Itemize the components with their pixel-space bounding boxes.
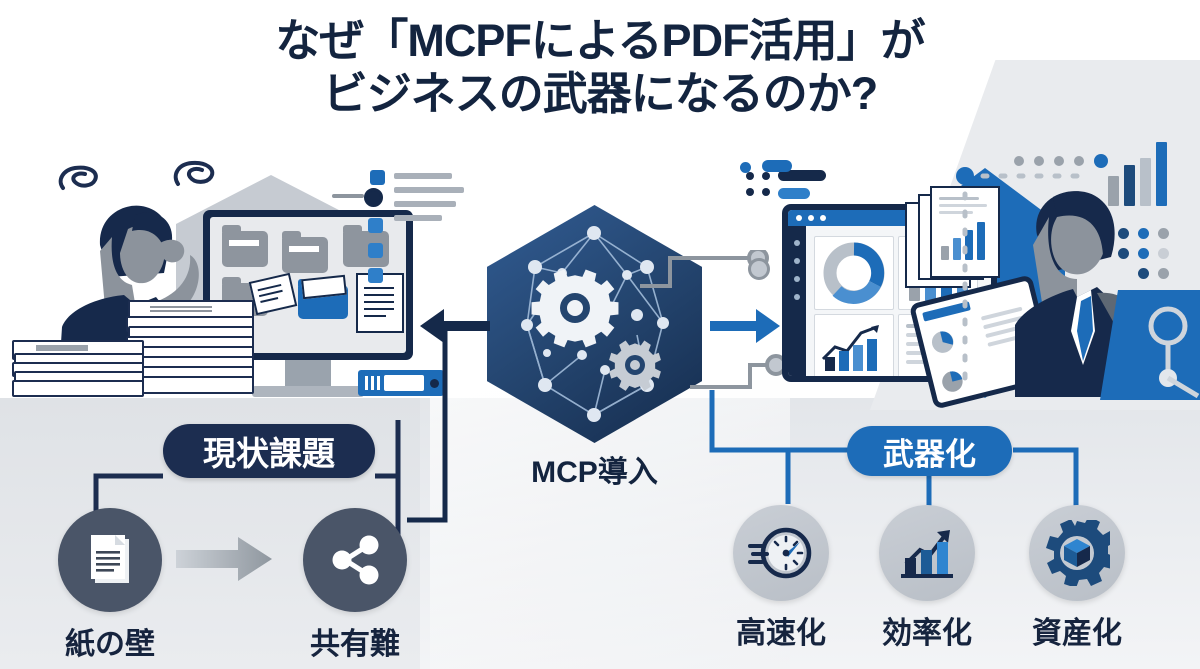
decoration-dot — [1158, 248, 1169, 259]
benefit-node-asset[interactable]: 資産化 — [1012, 505, 1142, 652]
bar-chart-decoration-icon — [1124, 165, 1135, 206]
growth-bar-chart-icon — [879, 505, 975, 601]
issue-node-sharing-difficulty-label: 共有難 — [285, 619, 425, 663]
decoration-pill — [762, 160, 792, 172]
speedometer-icon — [733, 505, 829, 601]
page-title: なぜ「MCPFによるPDF活用」が ビジネスの武器になるのか? — [0, 14, 1200, 120]
hub-label: MCP導入 — [487, 447, 702, 491]
decoration-dot — [1118, 248, 1129, 259]
list-bullet-square — [370, 170, 385, 185]
badge-current-issues-label: 現状課題 — [203, 427, 335, 475]
gear-cube-icon — [1029, 505, 1125, 601]
title-line-1: なぜ「MCPFによるPDF活用」が — [0, 14, 1200, 67]
benefit-node-speed-label: 高速化 — [716, 608, 846, 652]
text-placeholder-line — [394, 215, 442, 221]
donut-chart-card — [814, 236, 894, 310]
folder-blue-icon — [298, 285, 348, 319]
decoration-dot — [1138, 268, 1149, 279]
trend-chart-card — [814, 314, 894, 376]
decoration-dot — [1138, 228, 1149, 239]
decoration-dot — [746, 172, 754, 180]
paper-stack-illustration — [12, 340, 152, 398]
decoration-pill — [778, 188, 810, 199]
text-placeholder-line — [394, 187, 464, 193]
benefit-node-efficiency-label: 効率化 — [862, 608, 992, 652]
badge-weaponization-label: 武器化 — [883, 429, 976, 474]
list-bullet-square — [368, 243, 383, 258]
decoration-dot — [740, 162, 751, 173]
connector-arrow-small — [756, 276, 802, 386]
decoration-dot — [1138, 248, 1149, 259]
benefit-node-efficiency[interactable]: 効率化 — [862, 505, 992, 652]
benefit-node-speed[interactable]: 高速化 — [716, 505, 846, 652]
node-link-decoration — [1140, 300, 1200, 400]
decoration-dot — [746, 188, 754, 196]
text-placeholder-line — [394, 173, 452, 179]
issue-node-paper-wall-label: 紙の壁 — [40, 619, 180, 663]
issue-node-sharing-difficulty[interactable]: 共有難 — [285, 508, 425, 663]
decoration-dot — [1118, 228, 1129, 239]
bar-chart-decoration-icon — [1140, 158, 1151, 206]
benefit-node-asset-label: 資産化 — [1012, 608, 1142, 652]
list-bullet-square — [368, 218, 383, 233]
text-placeholder-line — [394, 201, 456, 207]
title-line-2: ビジネスの武器になるのか? — [0, 67, 1200, 120]
folder-icon — [282, 237, 328, 273]
share-network-icon — [303, 508, 407, 612]
decoration-dot — [762, 188, 770, 196]
bar-chart-decoration-icon — [1156, 142, 1167, 206]
list-bullet-square — [368, 268, 383, 283]
monitor-base — [252, 386, 364, 397]
documents-stack-icon — [58, 508, 162, 612]
bar-chart-decoration-icon — [1108, 176, 1119, 206]
badge-weaponization[interactable]: 武器化 — [847, 426, 1012, 476]
arrow-right-grey-icon — [176, 534, 286, 584]
infographic-canvas: なぜ「MCPFによるPDF活用」が ビジネスの武器になるのか? — [0, 0, 1200, 669]
decoration-dot — [762, 172, 770, 180]
node-dot — [364, 188, 383, 207]
decoration-dot — [1094, 154, 1108, 168]
decoration-dot — [1158, 268, 1169, 279]
dotted-guide-lines — [955, 150, 1095, 400]
issue-node-paper-wall[interactable]: 紙の壁 — [40, 508, 180, 663]
decoration-dot — [1158, 228, 1169, 239]
connector-line — [332, 194, 364, 198]
badge-current-issues[interactable]: 現状課題 — [163, 424, 375, 478]
